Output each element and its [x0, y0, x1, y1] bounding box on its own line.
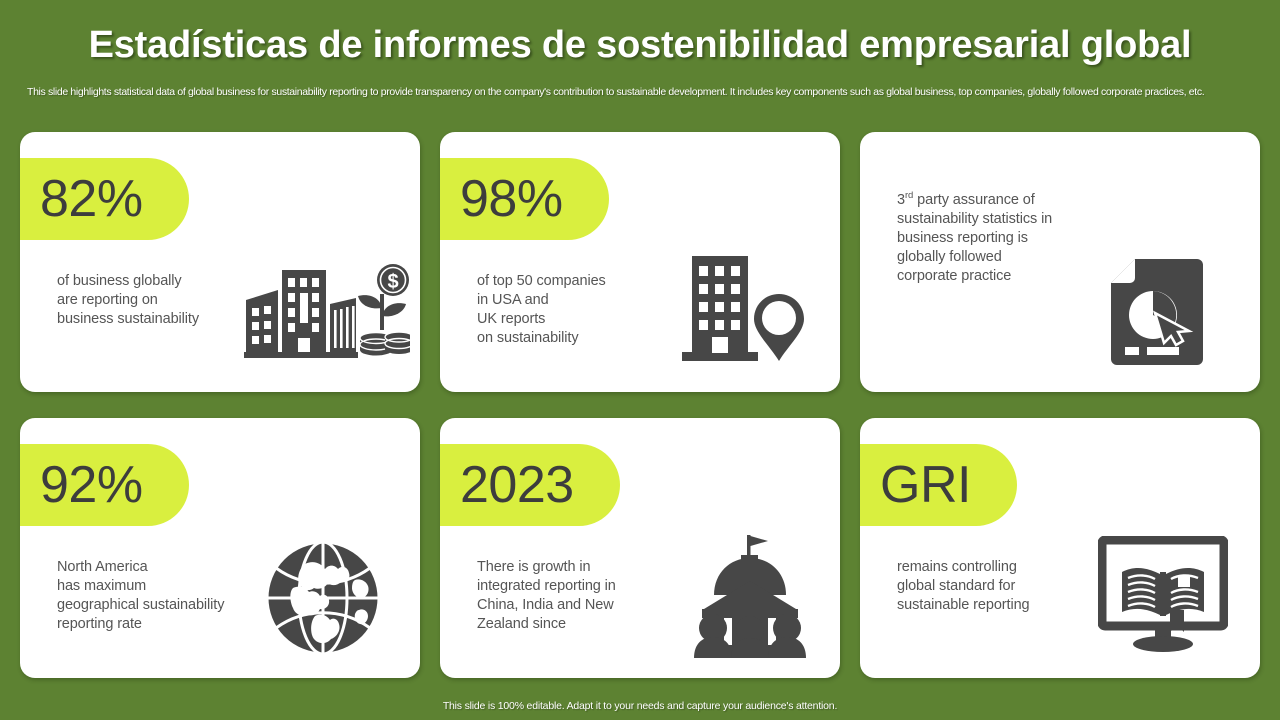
stat-card-4[interactable]: 92% North America has maximum geographic… — [20, 418, 420, 678]
slide-root: Estadísticas de informes de sostenibilid… — [0, 0, 1280, 720]
stat-badge-value-4: 92% — [40, 457, 143, 513]
stat-card-text-5: There is growth in integrated reporting … — [477, 558, 616, 634]
stat-card-6[interactable]: GRI remains controlling global standard … — [860, 418, 1260, 678]
stat-card-text-4: North America has maximum geographical s… — [57, 558, 224, 634]
page-title: Estadísticas de informes de sostenibilid… — [0, 22, 1280, 68]
building-location-pin-icon — [678, 252, 808, 367]
buildings-money-icon: $ — [242, 260, 410, 360]
stat-card-5[interactable]: 2023 There is growth in integrated repor… — [440, 418, 840, 678]
stat-badge-2: 98% — [440, 158, 609, 240]
globe-icon — [258, 538, 388, 658]
stat-card-1[interactable]: 82% of business globally are reporting o… — [20, 132, 420, 392]
stat-badge-5: 2023 — [440, 444, 620, 526]
stat-badge-value-2: 98% — [460, 171, 563, 227]
stat-badge-value-5: 2023 — [460, 457, 574, 513]
government-people-icon — [680, 533, 820, 658]
stat-card-text-1: of business globally are reporting on bu… — [57, 272, 199, 329]
stat-badge-1: 82% — [20, 158, 189, 240]
stat-badge-4: 92% — [20, 444, 189, 526]
slide-header: Estadísticas de informes de sostenibilid… — [0, 0, 1280, 126]
stat-card-text-6: remains controlling global standard for … — [897, 558, 1030, 615]
stat-badge-value-6: GRI — [880, 457, 971, 513]
stat-badge-6: GRI — [860, 444, 1017, 526]
stat-card-text-3: 3rd party assurance of sustainability st… — [897, 191, 1052, 286]
slide-subtitle: This slide highlights statistical data o… — [27, 86, 1207, 99]
stat-card-grid: 82% of business globally are reporting o… — [20, 132, 1260, 678]
stat-card-3[interactable]: 3rd party assurance of sustainability st… — [860, 132, 1260, 392]
stat-badge-value-1: 82% — [40, 171, 143, 227]
slide-footer-note: This slide is 100% editable. Adapt it to… — [0, 700, 1280, 712]
document-pie-chart-icon — [1105, 257, 1205, 367]
stat-card-2[interactable]: 98% of top 50 companies in USA and UK re… — [440, 132, 840, 392]
stat-card-text-2: of top 50 companies in USA and UK report… — [477, 272, 606, 348]
monitor-book-icon — [1098, 536, 1228, 654]
svg-text:$: $ — [387, 271, 398, 293]
